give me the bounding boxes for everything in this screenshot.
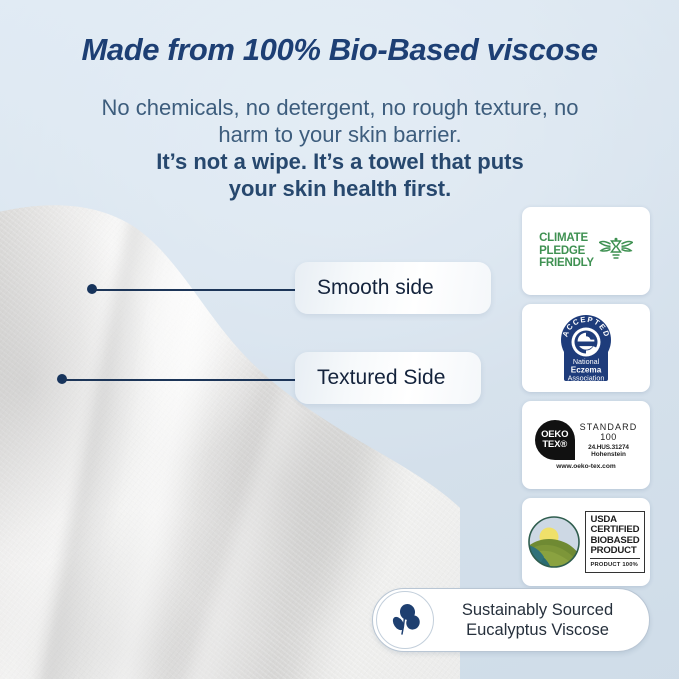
callout-label: Textured Side xyxy=(317,366,445,390)
eucalyptus-line-1: Sustainably Sourced xyxy=(434,600,641,620)
subheading: No chemicals, no detergent, no rough tex… xyxy=(90,94,590,202)
badge-climate-pledge-friendly: CLIMATE PLEDGE FRIENDLY xyxy=(522,207,650,295)
leader-line-smooth-side xyxy=(92,283,297,295)
leader-line-segment xyxy=(94,289,297,291)
badge-national-eczema-association: ACCEPTED National Eczema Association xyxy=(522,304,650,392)
subheading-line-4: your skin health first. xyxy=(90,175,590,202)
eucalyptus-leaf-icon xyxy=(386,601,424,639)
eczema-seal-icon: ACCEPTED National Eczema Association xyxy=(556,311,616,385)
eucalyptus-label: Sustainably Sourced Eucalyptus Viscose xyxy=(434,600,649,640)
subheading-line-3: It’s not a wipe. It’s a towel that puts xyxy=(90,148,590,175)
climate-pledge-text: CLIMATE PLEDGE FRIENDLY xyxy=(539,232,594,270)
nea-line-3: Association xyxy=(568,373,605,382)
badge-usda-certified-biobased: USDA CERTIFIED BIOBASED PRODUCT PRODUCT … xyxy=(522,498,650,586)
usda-biobased-icon xyxy=(527,515,581,569)
oeko-tex-icon: OEKO TEX® xyxy=(535,420,575,460)
oeko-url: www.oeko-tex.com xyxy=(556,463,615,470)
oeko-standard-label: STANDARD xyxy=(580,422,638,432)
cpf-line-1: CLIMATE xyxy=(539,232,594,245)
eucalyptus-icon-circle xyxy=(376,591,434,649)
callout-smooth-side: Smooth side xyxy=(295,262,491,314)
callout-label: Smooth side xyxy=(317,276,434,300)
page-title: Made from 100% Bio-Based viscose xyxy=(0,32,679,68)
usda-line-4: PRODUCT xyxy=(590,546,639,557)
subheading-line-1: No chemicals, no detergent, no rough xyxy=(102,95,469,120)
oeko-standard-number: 100 xyxy=(580,432,638,442)
badge-oeko-tex: OEKO TEX® STANDARD 100 24.HUS.31274 Hohe… xyxy=(522,401,650,489)
certification-badge-list: CLIMATE PLEDGE FRIENDLY xyxy=(522,207,650,595)
callout-textured-side: Textured Side xyxy=(295,352,481,404)
eucalyptus-callout: Sustainably Sourced Eucalyptus Viscose xyxy=(372,588,650,652)
cpf-line-3: FRIENDLY xyxy=(539,257,594,270)
oeko-mark-line-2: TEX® xyxy=(542,440,567,450)
eucalyptus-line-2: Eucalyptus Viscose xyxy=(434,620,641,640)
cpf-line-2: PLEDGE xyxy=(539,245,594,258)
usda-footnote: PRODUCT 100% xyxy=(590,558,639,571)
leader-line-segment xyxy=(64,379,297,381)
product-infographic: Made from 100% Bio-Based viscose No chem… xyxy=(0,0,679,679)
leader-line-textured-side xyxy=(62,373,297,385)
oeko-institute: Hohenstein xyxy=(580,451,638,458)
oeko-certificate-number: 24.HUS.31274 xyxy=(580,444,638,451)
winged-hourglass-icon xyxy=(599,236,633,266)
